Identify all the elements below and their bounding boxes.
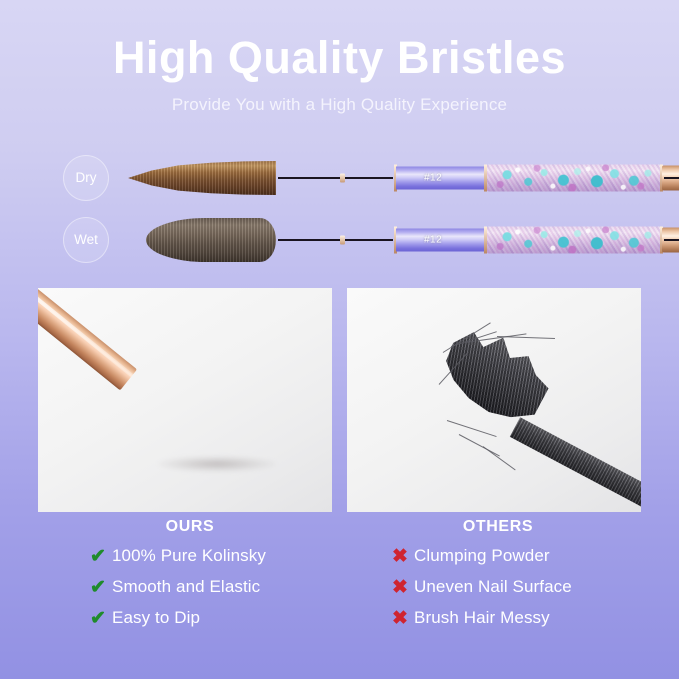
- ours-photo-backdrop: [38, 288, 332, 512]
- dry-ferrule-seam: [278, 177, 393, 179]
- list-item: ✔ Smooth and Elastic: [40, 577, 340, 597]
- list-item: ✔ Easy to Dip: [40, 608, 340, 628]
- others-feature-column: OTHERS ✖ Clumping Powder ✖ Uneven Nail S…: [348, 518, 648, 639]
- ours-rose-gold-handle: [38, 288, 137, 390]
- list-item: ✔ 100% Pure Kolinsky: [40, 546, 340, 566]
- dry-ring-mid: [484, 165, 487, 192]
- dry-badge-label: Dry: [76, 171, 97, 185]
- wet-brush-row: Wet #12: [0, 209, 679, 271]
- header-block: High Quality Bristles Provide You with a…: [0, 34, 679, 115]
- brush-comparison-illustration: Dry #12 Wet: [0, 145, 679, 275]
- stray-hair: [447, 420, 497, 437]
- page-title: High Quality Bristles: [0, 34, 679, 81]
- stray-hair: [497, 336, 555, 339]
- ours-product-photo: [38, 288, 332, 512]
- others-photo-backdrop: [347, 288, 641, 512]
- feature-comparison-lists: OURS ✔ 100% Pure Kolinsky ✔ Smooth and E…: [0, 518, 679, 658]
- others-heading: OTHERS: [348, 518, 648, 536]
- dry-handle-size-mark: #12: [424, 173, 442, 184]
- wet-badge-label: Wet: [74, 233, 98, 247]
- wet-bristle-head: [146, 218, 276, 262]
- dry-bristle-head: [128, 161, 276, 195]
- list-item: ✖ Clumping Powder: [348, 546, 648, 566]
- cross-icon: ✖: [392, 578, 414, 597]
- others-feature-label: Clumping Powder: [414, 546, 550, 566]
- dry-end-cap-seam: [664, 177, 679, 179]
- check-icon: ✔: [90, 609, 112, 628]
- others-product-photo: [347, 288, 641, 512]
- page-subtitle: Provide You with a High Quality Experien…: [0, 95, 679, 115]
- wet-state-badge: Wet: [63, 217, 109, 263]
- ours-feature-label: Smooth and Elastic: [112, 577, 260, 597]
- wet-glitter-barrel: [486, 227, 662, 254]
- ours-heading: OURS: [40, 518, 340, 536]
- others-brush-shaft: [510, 417, 641, 512]
- dry-brush-graphic: #12: [128, 147, 648, 209]
- wet-ring-mid: [484, 227, 487, 254]
- photo-comparison-row: [38, 288, 641, 512]
- stray-hair: [483, 446, 516, 470]
- ours-feature-label: Easy to Dip: [112, 608, 200, 628]
- wet-handle-size-mark: #12: [424, 235, 442, 246]
- list-item: ✖ Brush Hair Messy: [348, 608, 648, 628]
- ours-brush-bristles: [116, 396, 246, 512]
- wet-brush-graphic: #12: [128, 209, 648, 271]
- wet-crimp-collar: [340, 236, 345, 245]
- check-icon: ✔: [90, 578, 112, 597]
- others-feature-label: Uneven Nail Surface: [414, 577, 572, 597]
- dry-state-badge: Dry: [63, 155, 109, 201]
- wet-end-cap-seam: [664, 239, 679, 241]
- product-infographic: High Quality Bristles Provide You with a…: [0, 0, 679, 679]
- check-icon: ✔: [90, 547, 112, 566]
- list-item: ✖ Uneven Nail Surface: [348, 577, 648, 597]
- cross-icon: ✖: [392, 609, 414, 628]
- cross-icon: ✖: [392, 547, 414, 566]
- others-feature-label: Brush Hair Messy: [414, 608, 550, 628]
- dry-crimp-collar: [340, 174, 345, 183]
- ours-feature-label: 100% Pure Kolinsky: [112, 546, 266, 566]
- wet-ferrule-seam: [278, 239, 393, 241]
- dry-glitter-barrel: [486, 165, 662, 192]
- ours-feature-column: OURS ✔ 100% Pure Kolinsky ✔ Smooth and E…: [40, 518, 340, 639]
- dry-brush-row: Dry #12: [0, 147, 679, 209]
